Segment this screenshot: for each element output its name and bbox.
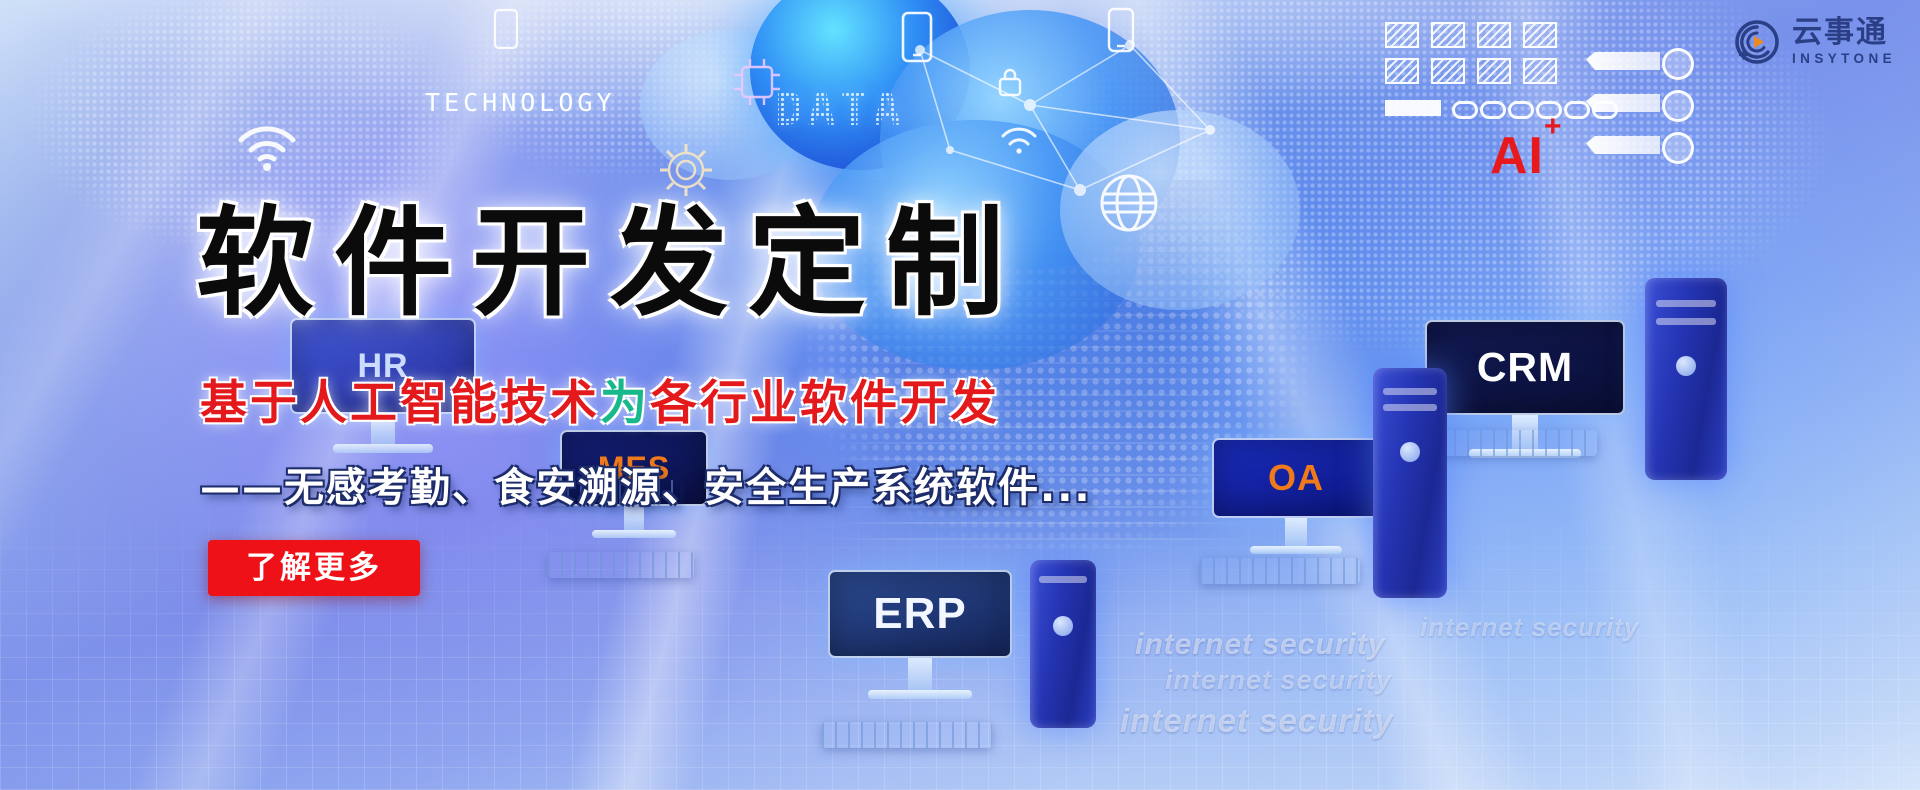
tagline: ——无感考勤、食安溯源、安全生产系统软件...	[200, 468, 1092, 508]
brand-wordmark: 云事通 INSYTONE	[1792, 18, 1896, 66]
subheadline-part-1: 基于人工智能技术	[200, 376, 600, 431]
hero-banner: internet security internet security inte…	[0, 0, 1920, 790]
play-in-circle-icon	[1734, 19, 1780, 65]
learn-more-button[interactable]: 了解更多	[208, 540, 420, 596]
brand-name-cn: 云事通	[1792, 18, 1896, 48]
subheadline-part-2: 为	[600, 376, 650, 431]
page-title: 软件开发定制	[196, 204, 1024, 322]
brand-name-en: INSYTONE	[1792, 52, 1896, 66]
subheadline: 基于人工智能技术为各行业软件开发	[200, 380, 1000, 427]
subheadline-part-3: 各行业软件开发	[650, 376, 1000, 431]
brand-logo[interactable]: 云事通 INSYTONE	[1734, 18, 1896, 66]
copy-block: 软件开发定制 基于人工智能技术为各行业软件开发 ——无感考勤、食安溯源、安全生产…	[0, 0, 1920, 790]
